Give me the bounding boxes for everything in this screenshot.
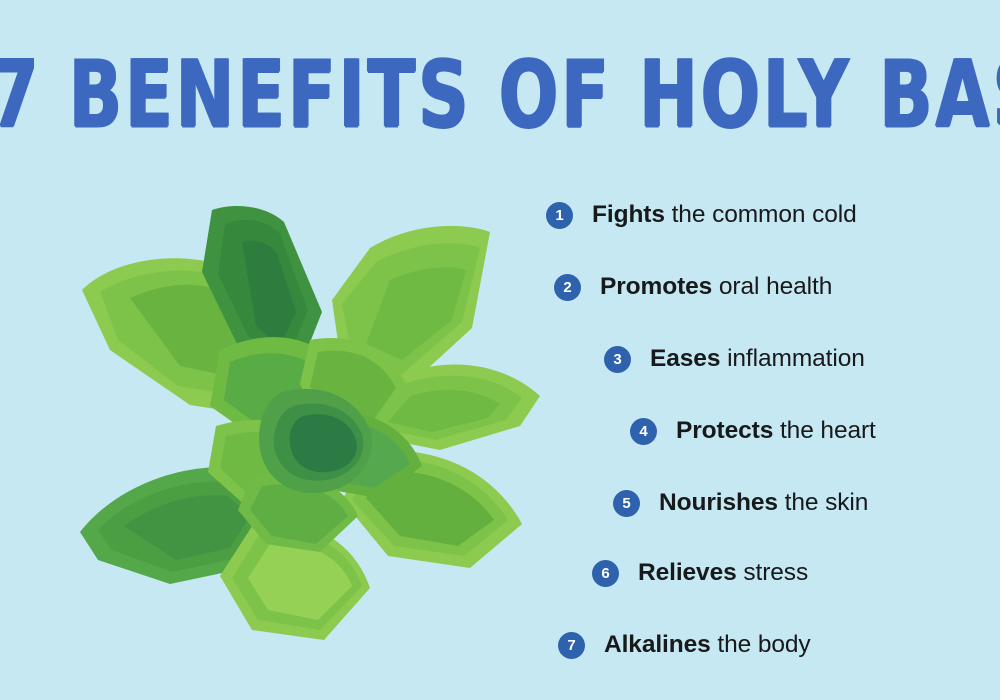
benefit-lead: Eases <box>650 345 720 372</box>
benefit-number-badge: 4 <box>630 418 657 445</box>
list-item: 7 Alkalines the body <box>558 631 811 659</box>
benefit-number-badge: 7 <box>558 632 585 659</box>
benefit-lead: Relieves <box>638 559 737 586</box>
benefit-text: Relieves stress <box>638 559 808 587</box>
benefit-lead: Nourishes <box>659 489 778 516</box>
basil-leaves <box>80 206 540 640</box>
list-item: 4 Protects the heart <box>630 417 876 445</box>
benefit-number-badge: 6 <box>592 560 619 587</box>
benefit-number-badge: 5 <box>613 490 640 517</box>
benefit-rest: stress <box>737 559 808 586</box>
benefit-rest: the common cold <box>665 201 857 228</box>
basil-plant-svg <box>70 200 570 655</box>
benefit-lead: Fights <box>592 201 665 228</box>
benefit-text: Alkalines the body <box>604 631 811 659</box>
benefit-text: Promotes oral health <box>600 273 832 301</box>
benefit-text: Protects the heart <box>676 417 876 445</box>
list-item: 5 Nourishes the skin <box>613 489 868 517</box>
list-item: 1 Fights the common cold <box>546 201 857 229</box>
list-item: 3 Eases inflammation <box>604 345 865 373</box>
benefit-rest: the skin <box>778 489 868 516</box>
benefit-lead: Alkalines <box>604 631 711 658</box>
benefit-number-badge: 1 <box>546 202 573 229</box>
holy-basil-plant-illustration <box>70 200 570 655</box>
benefit-lead: Promotes <box>600 273 712 300</box>
benefit-text: Nourishes the skin <box>659 489 868 517</box>
benefits-list: 1 Fights the common cold 2 Promotes oral… <box>500 180 960 680</box>
benefit-text: Eases inflammation <box>650 345 865 373</box>
benefit-number-badge: 3 <box>604 346 631 373</box>
benefit-lead: Protects <box>676 417 773 444</box>
benefit-rest: inflammation <box>720 345 864 372</box>
list-item: 6 Relieves stress <box>592 559 808 587</box>
page-title: 7 BENEFITS OF HOLY BASIL <box>0 48 1000 141</box>
benefit-rest: the body <box>711 631 811 658</box>
benefit-text: Fights the common cold <box>592 201 857 229</box>
list-item: 2 Promotes oral health <box>554 273 832 301</box>
benefit-number-badge: 2 <box>554 274 581 301</box>
benefit-rest: oral health <box>712 273 832 300</box>
benefit-rest: the heart <box>773 417 876 444</box>
infographic-poster: 7 BENEFITS OF HOLY BASIL <box>0 0 1000 700</box>
